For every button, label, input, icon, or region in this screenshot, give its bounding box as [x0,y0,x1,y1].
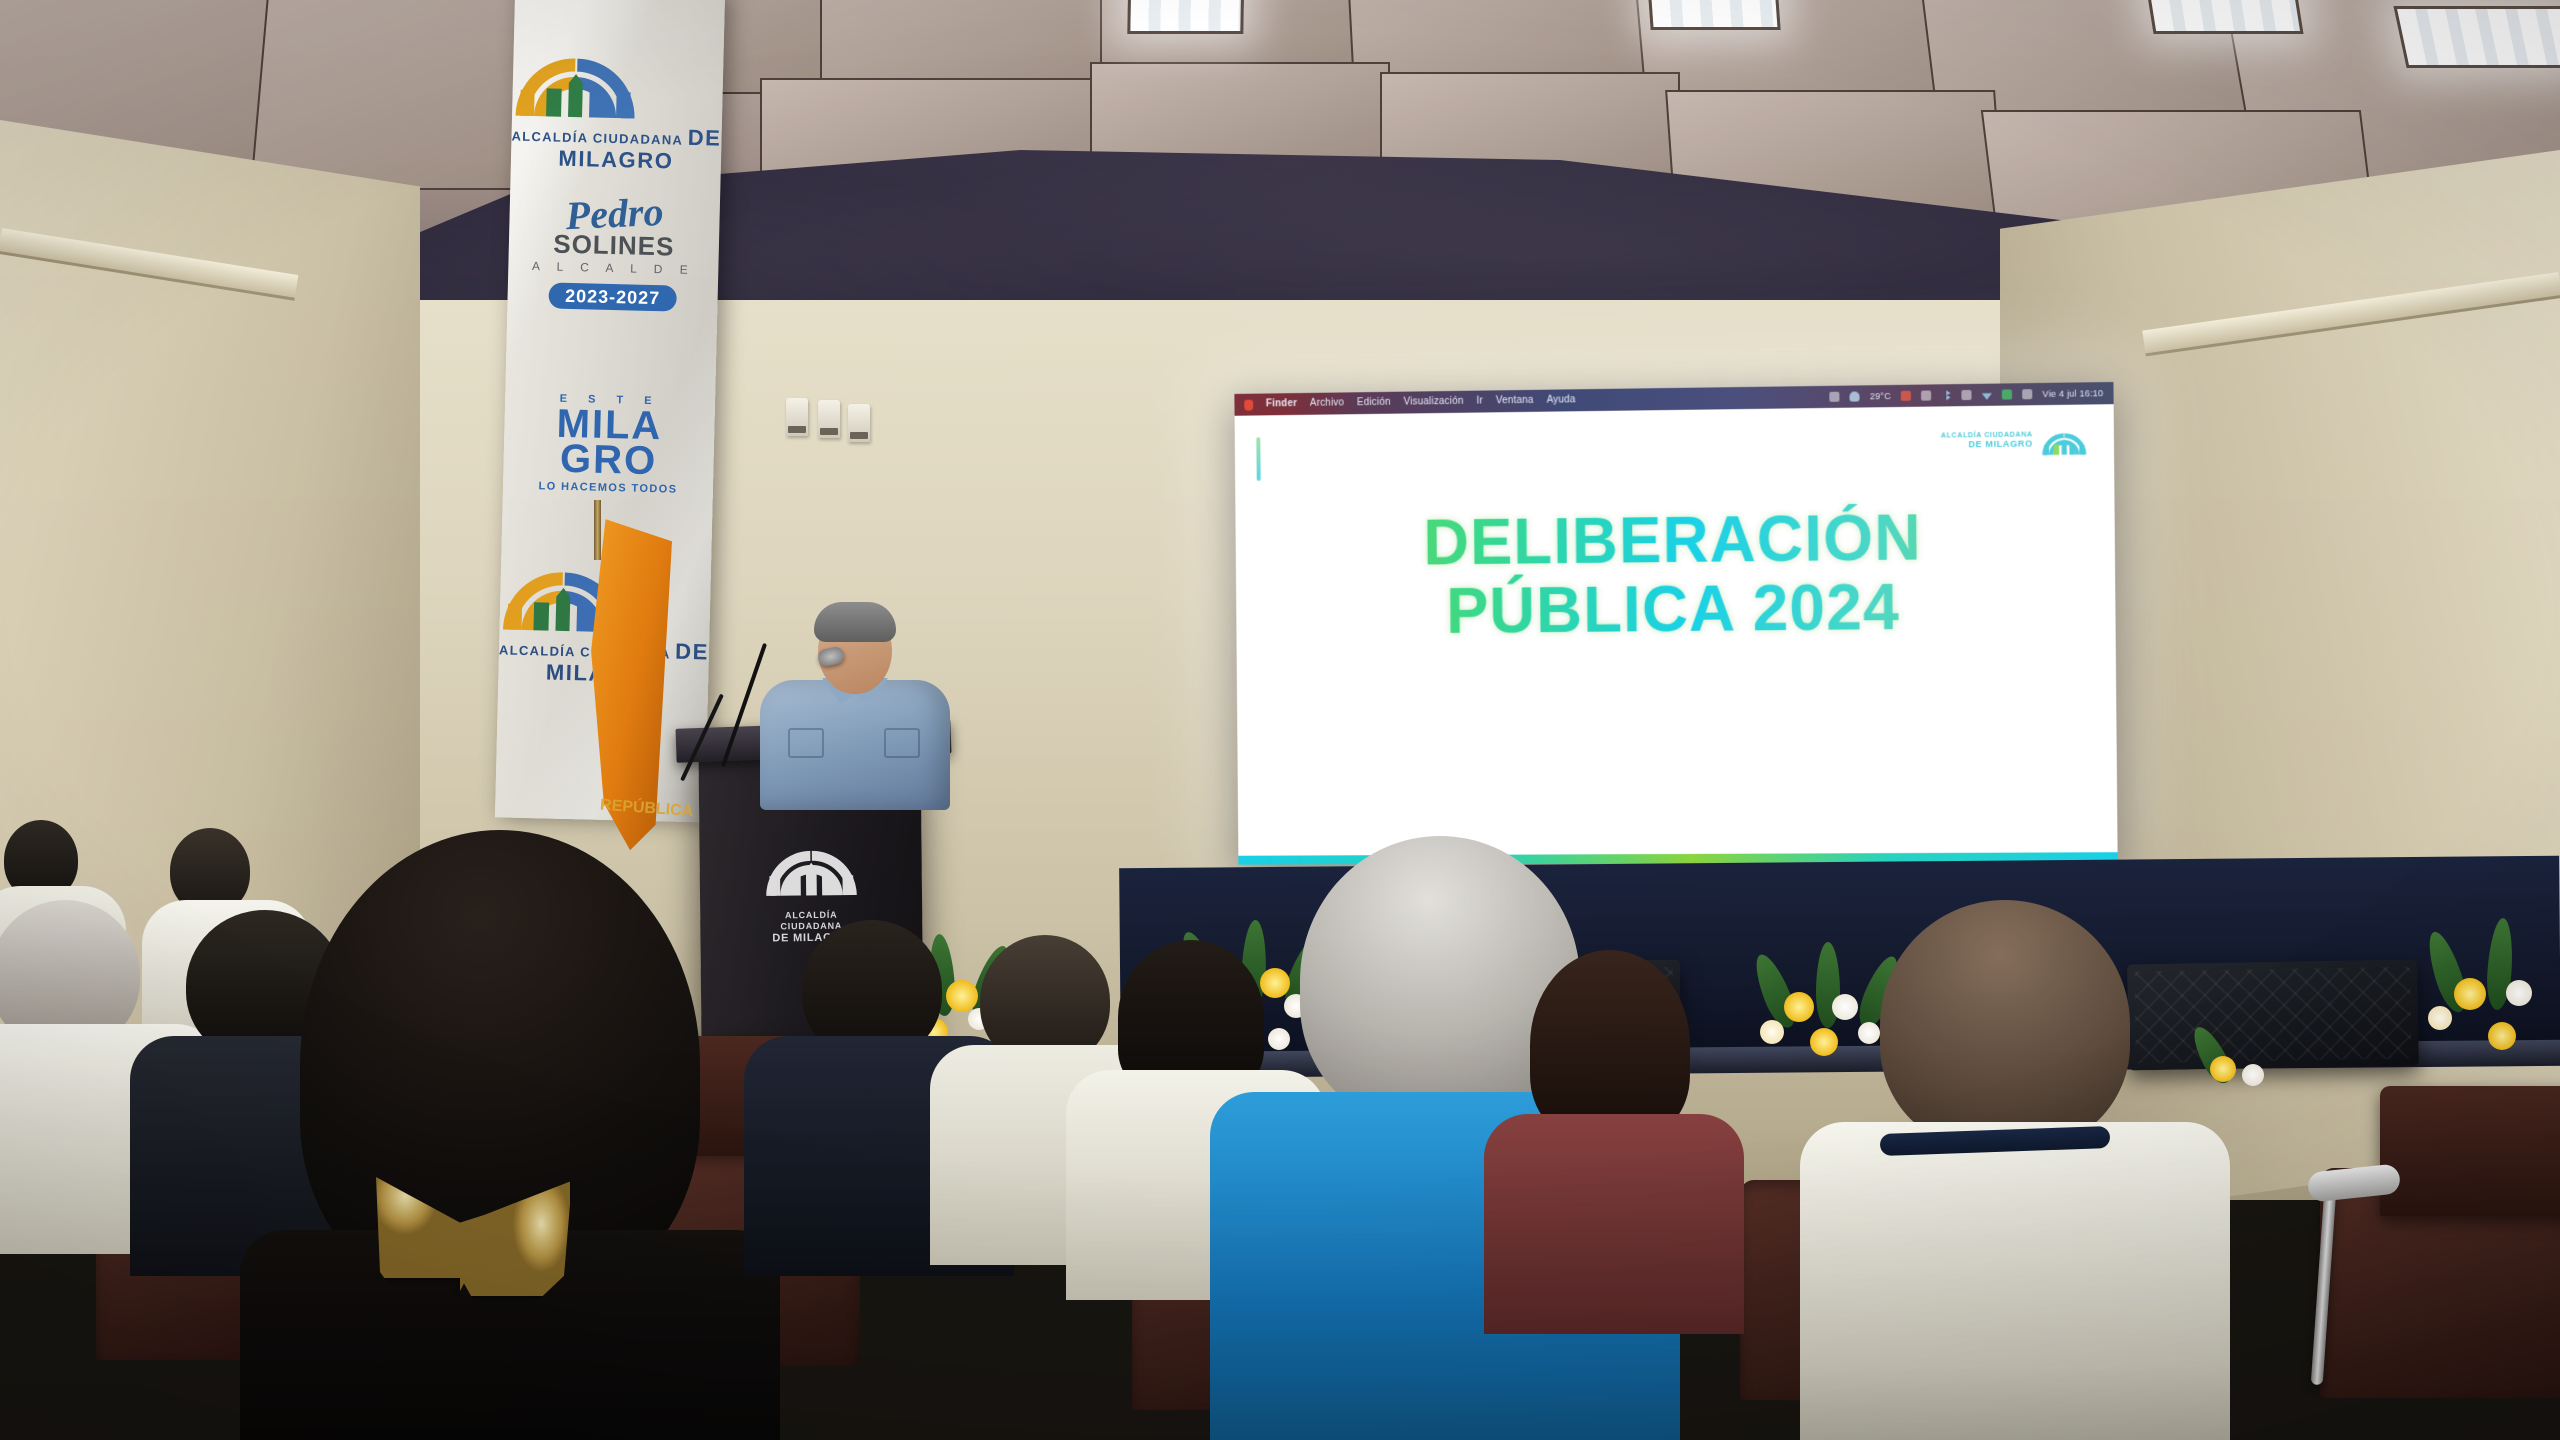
bluetooth-icon[interactable] [1941,390,1951,400]
mayor-term-badge: 2023-2027 [549,282,677,311]
slide-logo-line2: DE MILAGRO [1941,439,2033,450]
mayor-role: A L C A L D E [532,259,695,277]
control-center-icon[interactable] [1921,390,1931,400]
milagro-arcs-icon [762,830,859,901]
ceiling-light-panel [2142,0,2303,34]
presentation-slide: ALCALDÍA CIUDADANA DE MILAGRO DELIBERACI… [1235,404,2118,865]
audience-person-right [1840,900,2180,1440]
menu-item-ayuda[interactable]: Ayuda [1547,395,1576,405]
wall-fixture-icon [848,404,870,442]
menu-item-archivo[interactable]: Archivo [1310,398,1344,408]
slide-title: DELIBERACIÓN PÚBLICA 2024 [1235,501,2115,648]
menu-item-ir[interactable]: Ir [1476,397,1483,407]
auditorium-photo: ALCALDÍA CIUDADANA DE MILAGRO Pedro SOLI… [0,0,2560,1440]
audience-person [1500,950,1720,1280]
battery-icon[interactable] [1962,390,1972,400]
screen-mirroring-icon[interactable] [1830,392,1840,402]
ceiling-light-panel [1645,0,1780,30]
slide-logo: ALCALDÍA CIUDADANA DE MILAGRO [1941,423,2088,459]
slide-accent-mark [1256,437,1260,481]
milagro-arcs-icon [512,30,640,125]
wall-fixture-icon [786,398,808,436]
cloud-icon[interactable] [1850,391,1860,401]
speaker-person [760,600,950,800]
menu-item-finder[interactable]: Finder [1266,399,1297,409]
menubar-clock[interactable]: Vie 4 jul 16:10 [2043,389,2104,399]
shirt-pocket [788,728,824,758]
spotlight-icon[interactable] [2022,389,2032,399]
slogan-line2: GRO [560,437,658,483]
input-source-icon[interactable] [2002,389,2012,399]
weather-temperature[interactable]: 29°C [1870,392,1891,401]
seat-row-right [2380,1086,2560,1216]
shirt-pocket [884,728,920,758]
banner-logo-top-line1: ALCALDÍA CIUDADANA [511,129,683,148]
slide-title-line1: DELIBERACIÓN [1235,501,2115,579]
mayor-first-name: Pedro [565,194,664,234]
ceiling-light-panel [1127,0,1244,34]
banner-logo-top: ALCALDÍA CIUDADANA DE MILAGRO [511,30,724,175]
slogan-tagline: LO HACEMOS TODOS [538,481,677,496]
audience-person-foreground [300,830,720,1440]
menu-item-edicion[interactable]: Edición [1357,398,1391,408]
ceiling-light-panel [2393,6,2560,68]
slide-title-line2: PÚBLICA 2024 [1236,571,2116,648]
menu-item-visualizacion[interactable]: Visualización [1403,397,1463,408]
calendar-icon[interactable] [1901,391,1911,401]
wifi-icon[interactable] [1982,390,1992,400]
menu-item-ventana[interactable]: Ventana [1496,396,1534,406]
apple-icon[interactable] [1244,399,1253,410]
flag-pole [594,500,601,560]
wall-fixture-icon [818,400,840,438]
speaker-hair [814,602,896,642]
flower-arrangement [2410,930,2560,1065]
milagro-arcs-icon [2041,423,2088,458]
projection-screen: Finder Archivo Edición Visualización Ir … [1234,382,2117,865]
